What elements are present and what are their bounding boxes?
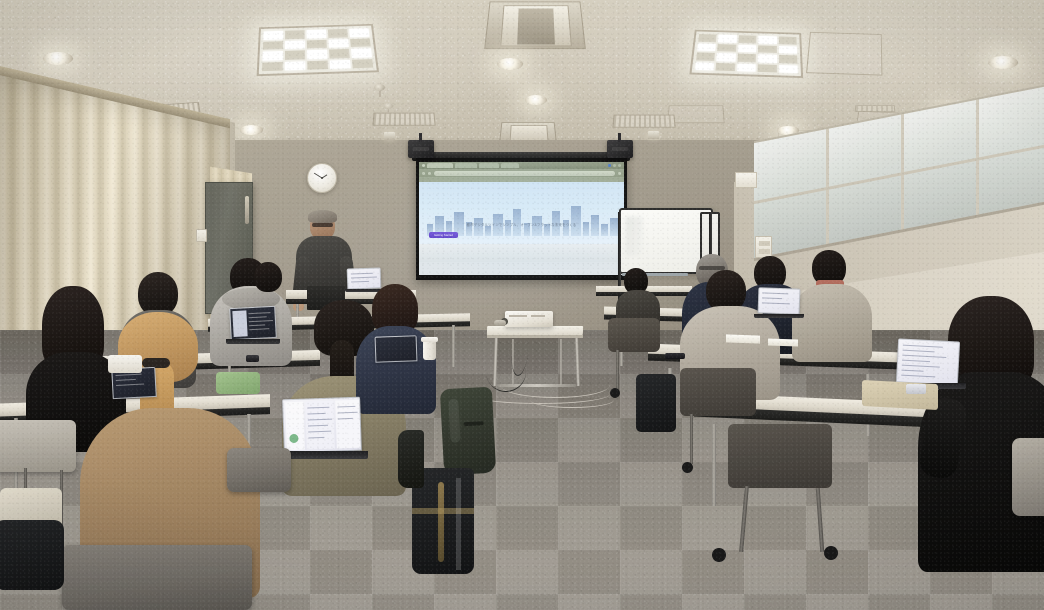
light-switch-plate[interactable]	[196, 229, 207, 242]
projector-table-top	[487, 326, 583, 335]
ceiling-light-panel-left	[257, 24, 379, 76]
black-bag-right[interactable]	[636, 374, 676, 432]
smartphone-right[interactable]	[906, 384, 926, 394]
projector-remote[interactable]	[494, 320, 506, 326]
browser-toolbar	[419, 169, 624, 177]
ceiling-speaker-right	[607, 140, 633, 158]
projection-screen: 都市デジタルツインでシンプル、オープン&フラットな未来をつくる Getting …	[416, 158, 627, 280]
ceiling-air-vent-1	[372, 113, 435, 126]
attendee-head	[254, 262, 282, 292]
downlight-4	[525, 95, 547, 105]
paper-sheet-right-2	[768, 338, 798, 346]
paper-sheet-right-1	[726, 334, 760, 343]
ceiling-air-vent-5	[855, 105, 896, 112]
black-bag-left-floor[interactable]	[0, 520, 64, 590]
attendee-body	[792, 284, 872, 362]
chair-caster-2	[824, 546, 838, 560]
slide-caption: 都市デジタルツインでシンプル、オープン&フラットな未来をつくる	[425, 222, 618, 227]
downlight-2	[240, 125, 263, 135]
chair-mid-right[interactable]	[680, 368, 756, 416]
ceiling-blank-panel-1	[806, 32, 882, 76]
wall-clock	[307, 163, 337, 193]
ceiling-sensor-1	[374, 84, 385, 91]
chair-back-right-leg	[616, 350, 619, 390]
laptop-foreground-base	[278, 451, 368, 459]
track-light-right	[648, 131, 659, 139]
slide-hero: 都市デジタルツインでシンプル、オープン&フラットな未来をつくる Getting …	[419, 182, 624, 244]
bag-strap	[398, 430, 424, 488]
ceiling-sensor-stem-1	[379, 91, 381, 97]
ceiling-light-panel-right	[689, 30, 803, 78]
chair-front-right[interactable]	[728, 424, 832, 488]
projected-slide: 都市デジタルツインでシンプル、オープン&フラットな未来をつくる Getting …	[419, 162, 624, 275]
smartphone-right-2[interactable]	[665, 353, 685, 359]
browser-tab-4[interactable]	[501, 163, 519, 168]
paper-cup[interactable]	[423, 340, 436, 360]
laptop-back-right-base	[754, 314, 804, 318]
slide-lower-section	[419, 244, 624, 262]
presenter-glasses	[312, 223, 333, 227]
chair-back-right[interactable]	[608, 318, 660, 352]
ceiling-vent-box-1	[484, 2, 586, 50]
downlight-3	[497, 58, 523, 70]
ceiling-air-vent-2	[612, 115, 675, 128]
ceiling-sensor-stem-2	[388, 109, 389, 114]
wall-outlet-panel[interactable]	[755, 236, 772, 258]
door-handle[interactable]	[245, 196, 249, 224]
seminar-room-photo: 都市デジタルツインでシンプル、オープン&フラットな未来をつくる Getting …	[0, 0, 1044, 610]
presenter-laptop[interactable]	[347, 267, 382, 289]
city-skyline-illustration	[419, 202, 624, 236]
chair-caster-4	[610, 388, 620, 398]
browser-tab-1[interactable]	[427, 163, 453, 168]
desk-front-right-leg-1	[712, 424, 716, 506]
chair-caster-1	[712, 548, 726, 562]
olive-backpack[interactable]	[440, 387, 496, 476]
tan-bag-on-desk[interactable]	[862, 380, 938, 410]
smartphone-left[interactable]	[246, 355, 259, 362]
presenter-hair	[308, 210, 337, 223]
slide-cta-button[interactable]: Getting Started	[429, 232, 458, 238]
chair-mid-left[interactable]	[227, 448, 291, 492]
presenter-laptop-screen	[348, 268, 381, 288]
desk-back-left-leg-2	[452, 325, 455, 367]
chair-foreground-left[interactable]	[62, 545, 252, 610]
chair-caster-3	[682, 462, 693, 473]
laptop-screen	[230, 307, 276, 339]
wall-notice-card	[735, 172, 757, 188]
projector-table-edge	[487, 335, 583, 338]
track-light-left	[384, 132, 395, 140]
downlight-1	[43, 52, 73, 65]
chair-left-edge[interactable]	[0, 420, 76, 472]
paper-stack-left	[108, 355, 142, 373]
ceiling-blank-panel-2	[667, 105, 725, 123]
laptop-screen	[376, 336, 417, 361]
browser-tab-3[interactable]	[479, 163, 499, 168]
downlight-5	[988, 56, 1018, 69]
paper-cup-lid	[421, 337, 438, 342]
chair-mid-right-leg	[690, 414, 693, 464]
projector[interactable]	[505, 311, 553, 327]
laptop-mid-left-base	[226, 339, 280, 344]
laptop-screen	[283, 398, 361, 453]
floor-cable-4	[530, 392, 614, 408]
laptop-foreground[interactable]	[282, 397, 362, 454]
speaker-mount-left	[419, 133, 422, 142]
laptop-mid-left[interactable]	[229, 306, 277, 340]
browser-titlebar	[419, 162, 624, 169]
laptop-screen	[759, 288, 800, 313]
ceiling-speaker-left	[408, 140, 434, 158]
browser-url-bar[interactable]	[434, 171, 615, 176]
laptop-screen	[897, 339, 959, 384]
laptop-mid-left-2[interactable]	[375, 335, 418, 362]
speaker-mount-right	[618, 133, 621, 142]
chair-far-right[interactable]	[1012, 438, 1044, 516]
laptop-back-right[interactable]	[758, 287, 801, 314]
laptop-right-woman[interactable]	[896, 338, 960, 385]
browser-tab-2[interactable]	[455, 163, 477, 168]
green-pouch[interactable]	[216, 372, 260, 394]
